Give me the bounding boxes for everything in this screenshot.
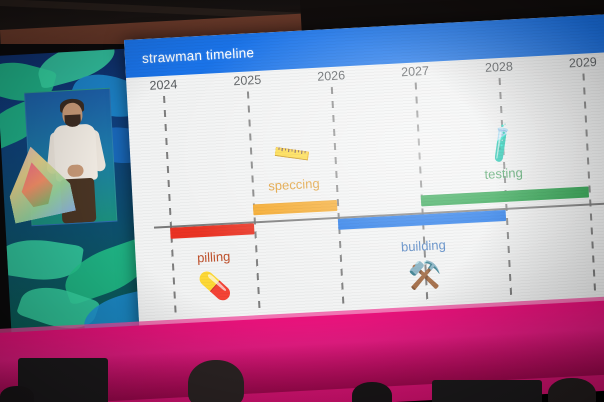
task-label-pilling: pilling [197,249,231,266]
year-dashed-line [499,78,513,298]
year-tick-2029: 2029 [582,74,596,294]
task-label-speccing: speccing [268,176,320,194]
year-dashed-line [582,74,596,294]
presentation-slide: strawman timeline 2024202520262027202820… [124,13,604,345]
year-tick-2024: 2024 [163,96,177,316]
speaker-hands [67,164,84,177]
hammers-icon: ⚒️ [407,261,442,290]
task-label-testing: testing [484,165,523,182]
year-dashed-line [247,91,261,311]
year-dashed-line [331,87,345,307]
task-bar-speccing [253,200,337,215]
audience-head [188,360,244,402]
year-label-2029: 2029 [569,55,598,70]
year-label-2027: 2027 [401,64,430,79]
year-dashed-line [163,96,177,316]
pill-icon: 💊 [198,273,233,302]
year-label-2025: 2025 [233,73,262,88]
year-label-2028: 2028 [485,59,514,74]
stage-led-video-wall [0,49,146,346]
conference-photo-scene: strawman timeline 2024202520262027202820… [0,0,604,402]
year-label-2026: 2026 [317,68,346,83]
audience-head [352,382,392,402]
audience-head [0,386,34,402]
ruler-icon: 📏 [271,134,314,176]
slide-title: strawman timeline [125,45,255,67]
year-tick-2025: 2025 [247,91,261,311]
pa-speaker-box [432,380,542,402]
test-tube-icon: 🧪 [480,123,523,165]
year-label-2024: 2024 [149,77,178,92]
projection-screen: strawman timeline 2024202520262027202820… [124,13,604,345]
year-tick-2026: 2026 [331,87,345,307]
audience-head [548,378,596,402]
task-label-building: building [401,237,447,254]
year-tick-2028: 2028 [499,78,513,298]
